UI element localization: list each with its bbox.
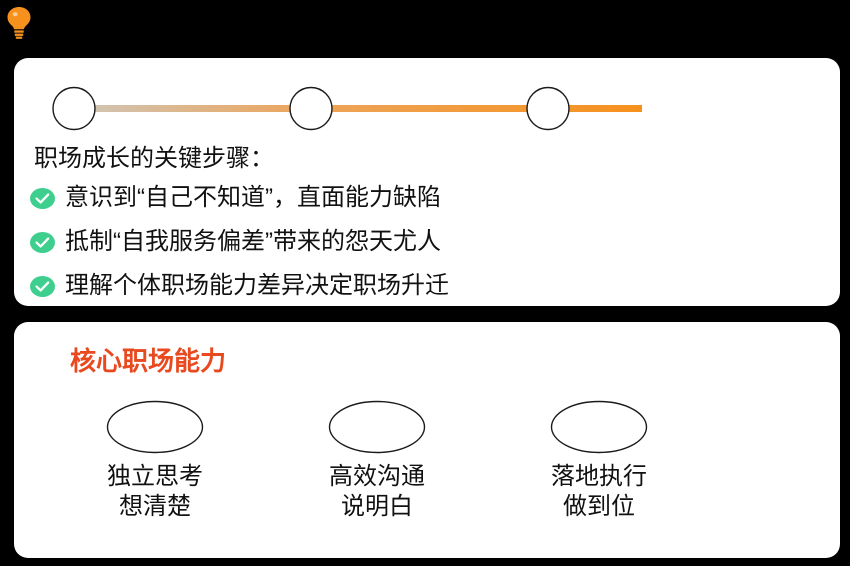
skills-row: 独立思考 想清楚 高效沟通 说明白 落地执行 做到位 xyxy=(44,400,810,522)
skill-item: 落地执行 做到位 xyxy=(488,400,710,522)
progress-timeline xyxy=(30,84,650,134)
skill-item-labels: 独立思考 想清楚 xyxy=(107,462,203,522)
skills-heading: 核心职场能力 xyxy=(70,344,226,378)
skill-item-line1: 落地执行 xyxy=(551,462,647,492)
skill-item-labels: 高效沟通 说明白 xyxy=(329,462,425,522)
skill-item: 高效沟通 说明白 xyxy=(266,400,488,522)
step-node-3[interactable] xyxy=(527,88,569,130)
lightbulb-icon xyxy=(4,5,34,39)
step-item-label: 抵制“自我服务偏差”带来的怨天尤人 xyxy=(65,227,441,257)
skills-card: 核心职场能力 独立思考 想清楚 高效沟通 说明白 xyxy=(14,322,840,558)
step-node-2[interactable] xyxy=(290,88,332,130)
check-circle-icon xyxy=(30,188,55,209)
skill-item-labels: 落地执行 做到位 xyxy=(551,462,647,522)
skill-item-line2: 说明白 xyxy=(329,492,425,522)
skill-item-line1: 高效沟通 xyxy=(329,462,425,492)
steps-body: 职场成长的关键步骤： 意识到“自己不知道”，直面能力缺陷 抵制“自我服务偏差”带… xyxy=(30,142,826,308)
steps-heading: 职场成长的关键步骤： xyxy=(34,142,826,176)
step-item: 理解个体职场能力差异决定职场升迁 xyxy=(30,264,826,308)
skill-item: 独立思考 想清楚 xyxy=(44,400,266,522)
step-node-1[interactable] xyxy=(53,88,95,130)
step-item: 抵制“自我服务偏差”带来的怨天尤人 xyxy=(30,220,826,264)
check-circle-icon xyxy=(30,276,55,297)
step-item-label: 意识到“自己不知道”，直面能力缺陷 xyxy=(65,183,441,213)
steps-card: 职场成长的关键步骤： 意识到“自己不知道”，直面能力缺陷 抵制“自我服务偏差”带… xyxy=(14,58,840,306)
check-circle-icon xyxy=(30,232,55,253)
oval-shape-icon xyxy=(550,400,648,454)
page-title: 职场成长的觉醒之路 xyxy=(36,10,180,34)
skill-item-line2: 想清楚 xyxy=(107,492,203,522)
skill-item-line2: 做到位 xyxy=(551,492,647,522)
skill-item-line1: 独立思考 xyxy=(107,462,203,492)
step-item-label: 理解个体职场能力差异决定职场升迁 xyxy=(65,271,449,301)
oval-shape-icon xyxy=(328,400,426,454)
step-item: 意识到“自己不知道”，直面能力缺陷 xyxy=(30,176,826,220)
page-title-row: 职场成长的觉醒之路 xyxy=(4,2,180,42)
oval-shape-icon xyxy=(106,400,204,454)
